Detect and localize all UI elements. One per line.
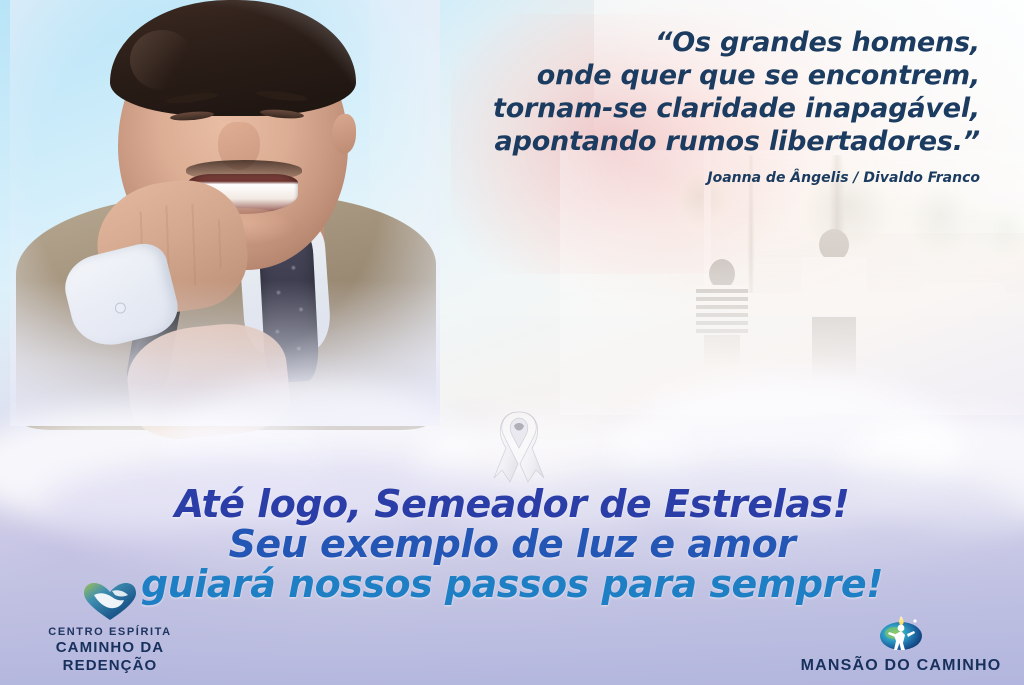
logo-right-line-1: MANSÃO DO CAMINHO (786, 656, 1016, 675)
scene-fade (560, 150, 1024, 415)
quote-attribution: Joanna de Ângelis / Divaldo Franco (360, 170, 980, 186)
logo-mansao-do-caminho: MANSÃO DO CAMINHO (786, 610, 1016, 675)
logo-left-line-1: CENTRO ESPÍRITA (8, 626, 212, 639)
globe-figure-flame-icon (875, 610, 927, 652)
logo-left-line-2: CAMINHO DA REDENÇÃO (8, 639, 212, 675)
white-mourning-ribbon-icon (488, 408, 550, 486)
headline-line-2: Seu exemplo de luz e amor (0, 524, 1024, 564)
portrait-lower-fade (10, 280, 440, 426)
quote-block: “Os grandes homens, onde quer que se enc… (360, 26, 980, 186)
memorial-poster: “Os grandes homens, onde quer que se enc… (0, 0, 1024, 685)
quote-line-2: onde quer que se encontrem, (360, 59, 980, 92)
quote-line-4: apontando rumos libertadores.” (360, 125, 980, 158)
quote-line-1: “Os grandes homens, (360, 26, 980, 59)
headline-line-1: Até logo, Semeador de Estrelas! (0, 484, 1024, 524)
logo-centro-espirita: CENTRO ESPÍRITA CAMINHO DA REDENÇÃO (8, 582, 212, 675)
background-scene-walking-figures (560, 150, 1024, 415)
heart-hands-icon (82, 582, 138, 622)
quote-line-3: tornam-se claridade inapagável, (360, 92, 980, 125)
